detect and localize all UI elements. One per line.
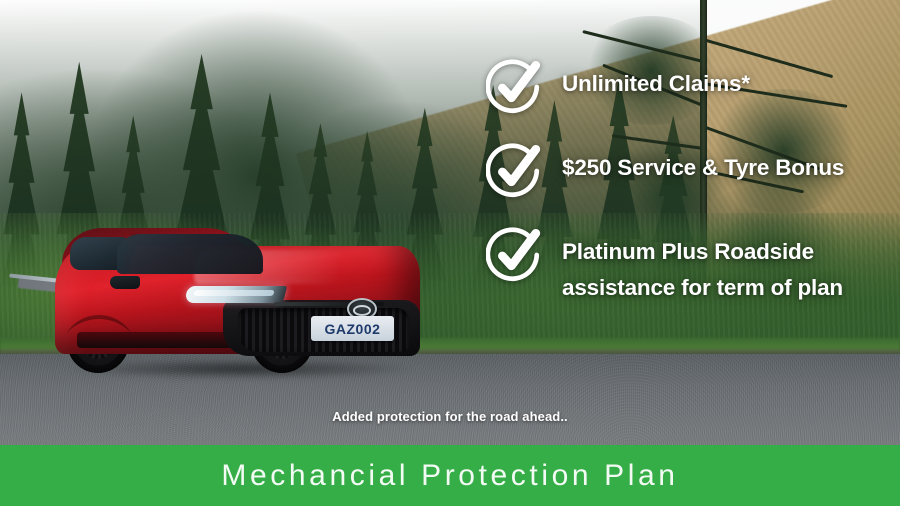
license-plate: GAZ002: [311, 316, 395, 341]
windscreen: [117, 234, 263, 274]
feature-item-platinum-plus-roadside: Platinum Plus Roadside assistance for te…: [486, 234, 886, 306]
footer-title: Mechancial Protection Plan: [221, 461, 678, 491]
red-sports-car: GAZ002: [55, 228, 420, 373]
side-mirror: [110, 276, 140, 289]
check-circle-icon: [486, 142, 544, 200]
feature-list: Unlimited Claims* $250 Service & Tyre Bo…: [486, 66, 886, 306]
footer-banner: Mechancial Protection Plan: [0, 445, 900, 506]
feature-item-service-tyre-bonus: $250 Service & Tyre Bonus: [486, 150, 886, 208]
feature-label: Platinum Plus Roadside assistance for te…: [562, 234, 880, 306]
check-circle-icon: [486, 226, 544, 284]
feature-label: $250 Service & Tyre Bonus: [562, 150, 844, 186]
headlight-inner: [193, 290, 275, 296]
check-circle-icon: [486, 58, 544, 116]
tagline: Added protection for the road ahead..: [0, 409, 900, 424]
feature-label: Unlimited Claims*: [562, 66, 750, 102]
license-plate-text: GAZ002: [325, 322, 381, 336]
mechanical-protection-plan-banner: GAZ002 Unlimited Claims* $250 Service & …: [0, 0, 900, 506]
feature-item-unlimited-claims: Unlimited Claims*: [486, 66, 886, 124]
